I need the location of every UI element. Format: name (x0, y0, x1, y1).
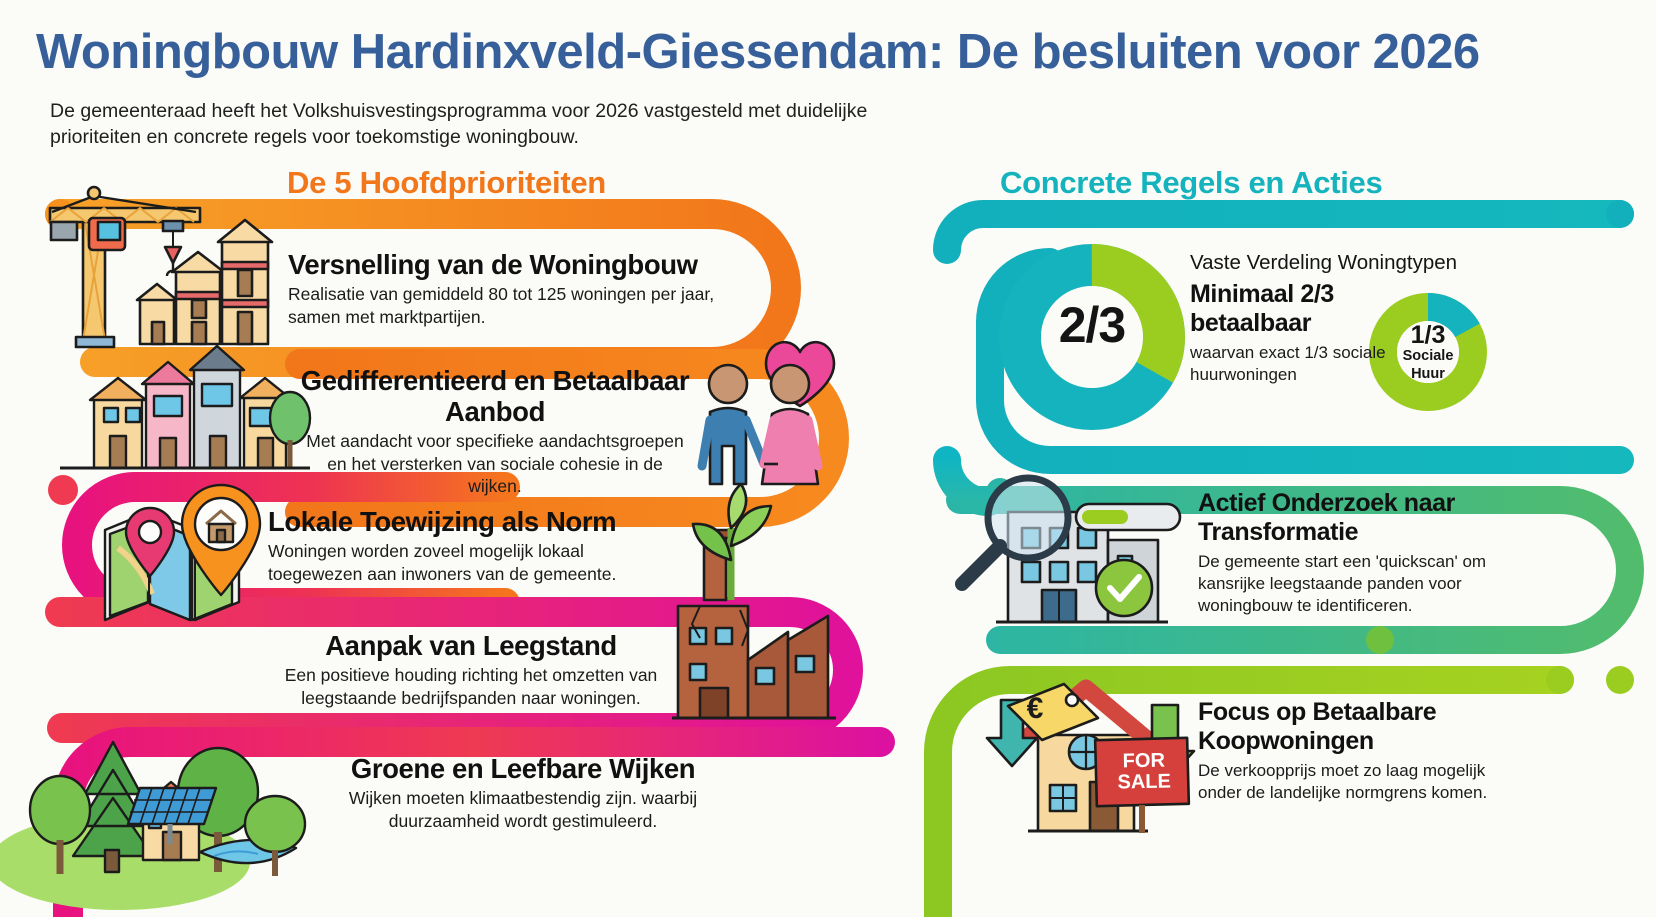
for-sale-sign-label: FOR SALE (1104, 750, 1185, 793)
priority-item-5: Groene en Leefbare Wijken Wijken moeten … (330, 753, 716, 832)
priority-1-title: Versnelling van de Woningbouw (288, 249, 718, 280)
small-donut-sub-line2: Huur (1385, 366, 1471, 382)
priority-item-3: Lokale Toewijzing als Norm Woningen word… (268, 506, 668, 585)
left-column-heading: De 5 Hoofdprioriteiten (287, 165, 606, 201)
small-donut-sub-line1: Sociale (1385, 348, 1471, 364)
priority-2-body: Met aandacht voor specifieke aandachtsgr… (300, 430, 690, 498)
rule-item-2: Actief Onderzoek naar Transformatie De g… (1198, 489, 1528, 617)
rule-item-3: Focus op Betaalbare Koopwoningen De verk… (1198, 698, 1510, 804)
priority-4-body: Een positieve houding richting het omzet… (272, 664, 670, 709)
priority-item-4: Aanpak van Leegstand Een positieve houdi… (272, 630, 670, 709)
page-title: Woningbouw Hardinxveld-Giessendam: De be… (36, 24, 1626, 80)
rule-2-title: Actief Onderzoek naar Transformatie (1198, 489, 1528, 547)
map-location-pin-icon (105, 485, 260, 620)
priority-item-1: Versnelling van de Woningbouw Realisatie… (288, 249, 718, 328)
rule-2-body: De gemeente start een 'quickscan' om kan… (1198, 551, 1528, 617)
priority-2-title: Gedifferentieerd en Betaalbaar Aanbod (300, 365, 690, 427)
priority-5-body: Wijken moeten klimaatbestendig zijn. waa… (330, 787, 716, 832)
infographic-canvas: € Woningbouw Hardinxveld-Giessendam: De … (0, 0, 1656, 917)
small-donut-center-label: 1/3 (1385, 321, 1471, 350)
rule-item-1: Minimaal 2/3 betaalbaar waarvan exact 1/… (1190, 280, 1390, 386)
rule-1-body: waarvan exact 1/3 sociale huurwoningen (1190, 342, 1390, 386)
green-neighborhood-solar-icon (0, 742, 305, 910)
priority-3-title: Lokale Toewijzing als Norm (268, 506, 668, 537)
priority-1-body: Realisatie van gemiddeld 80 tot 125 woni… (288, 283, 718, 328)
big-donut-center-label: 2/3 (1022, 296, 1162, 354)
right-column-heading: Concrete Regels en Acties (1000, 165, 1382, 201)
rule-3-body: De verkoopprijs moet zo laag mogelijk on… (1198, 760, 1510, 804)
rule-1-kicker: Vaste Verdeling Woningtypen (1190, 251, 1510, 275)
rule-1-title: Minimaal 2/3 betaalbaar (1190, 280, 1390, 338)
priority-item-2: Gedifferentieerd en Betaalbaar Aanbod Me… (300, 365, 690, 498)
priority-4-title: Aanpak van Leegstand (272, 630, 670, 661)
priority-5-title: Groene en Leefbare Wijken (330, 753, 716, 784)
svg-text:€: € (1027, 692, 1044, 725)
priority-3-body: Woningen worden zoveel mogelijk lokaal t… (268, 540, 668, 585)
page-subtitle: De gemeenteraad heeft het Volkshuisvesti… (50, 98, 950, 150)
rule-3-title: Focus op Betaalbare Koopwoningen (1198, 698, 1510, 756)
